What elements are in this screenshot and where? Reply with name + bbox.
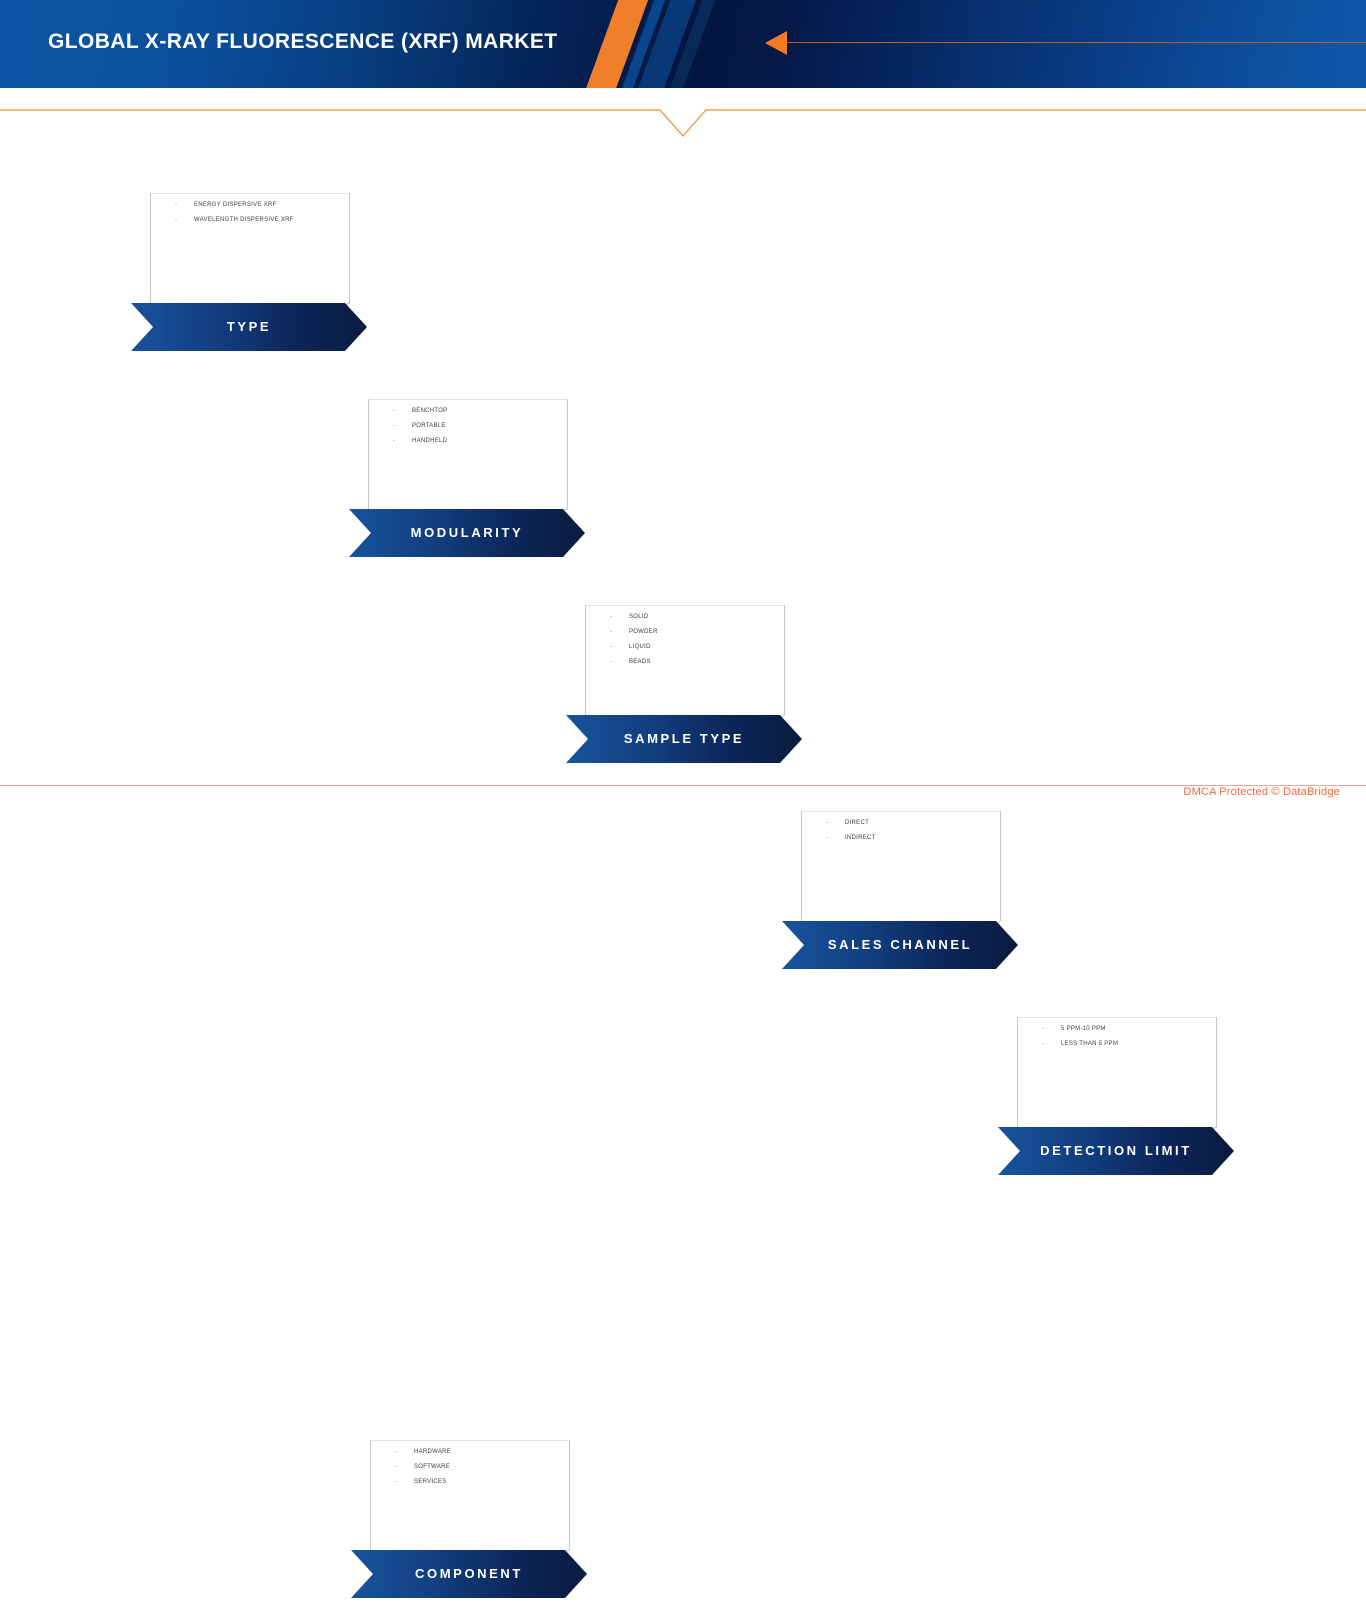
list-item: LESS THAN 5 PPM [1017, 1040, 1217, 1048]
segment-item-list-detection-limit: 5 PPM-10 PPMLESS THAN 5 PPM [1017, 1025, 1217, 1055]
segment-banner-component[interactable]: COMPONENT [351, 1550, 587, 1598]
list-item: SOLID [585, 613, 785, 621]
segment-item-list-component: HARDWARESOFTWARESERVICES [370, 1448, 570, 1493]
segment-banner-modularity[interactable]: MODULARITY [349, 509, 585, 557]
left-arrow-icon [765, 31, 787, 55]
footer-rule [0, 785, 1366, 786]
segment-title-detection-limit: DETECTION LIMIT [998, 1127, 1234, 1175]
segment-title-sales-channel: SALES CHANNEL [782, 921, 1018, 969]
header-rule [786, 42, 1366, 43]
page-header: GLOBAL X-RAY FLUORESCENCE (XRF) MARKET [0, 0, 1366, 88]
segment-banner-detection-limit[interactable]: DETECTION LIMIT [998, 1127, 1234, 1175]
segment-item-list-sample-type: SOLIDPOWDERLIQUIDBEADS [585, 613, 785, 673]
segment-title-type: TYPE [131, 303, 367, 351]
segment-banner-type[interactable]: TYPE [131, 303, 367, 351]
list-item: HANDHELD [368, 437, 568, 445]
segment-title-component: COMPONENT [351, 1550, 587, 1598]
page-title: GLOBAL X-RAY FLUORESCENCE (XRF) MARKET [48, 30, 558, 54]
list-item: POWDER [585, 628, 785, 636]
list-item: INDIRECT [801, 834, 1001, 842]
segment-title-modularity: MODULARITY [349, 509, 585, 557]
footer-copyright: DMCA Protected © DataBridge [1183, 786, 1340, 798]
list-item: 5 PPM-10 PPM [1017, 1025, 1217, 1033]
segment-title-sample-type: SAMPLE TYPE [566, 715, 802, 763]
list-item: WAVELENGTH DISPERSIVE XRF [150, 216, 350, 224]
segment-item-list-modularity: BENCHTOPPORTABLEHANDHELD [368, 407, 568, 452]
list-item: LIQUID [585, 643, 785, 651]
segment-banner-sales-channel[interactable]: SALES CHANNEL [782, 921, 1018, 969]
segment-item-list-sales-channel: DIRECTINDIRECT [801, 819, 1001, 849]
list-item: SOFTWARE [370, 1463, 570, 1471]
list-item: DIRECT [801, 819, 1001, 827]
list-item: BEADS [585, 658, 785, 666]
segment-item-list-type: ENERGY DISPERSIVE XRFWAVELENGTH DISPERSI… [150, 201, 350, 231]
list-item: SERVICES [370, 1478, 570, 1486]
list-item: ENERGY DISPERSIVE XRF [150, 201, 350, 209]
list-item: HARDWARE [370, 1448, 570, 1456]
orange-divider [0, 104, 1366, 140]
segment-banner-sample-type[interactable]: SAMPLE TYPE [566, 715, 802, 763]
list-item: BENCHTOP [368, 407, 568, 415]
list-item: PORTABLE [368, 422, 568, 430]
